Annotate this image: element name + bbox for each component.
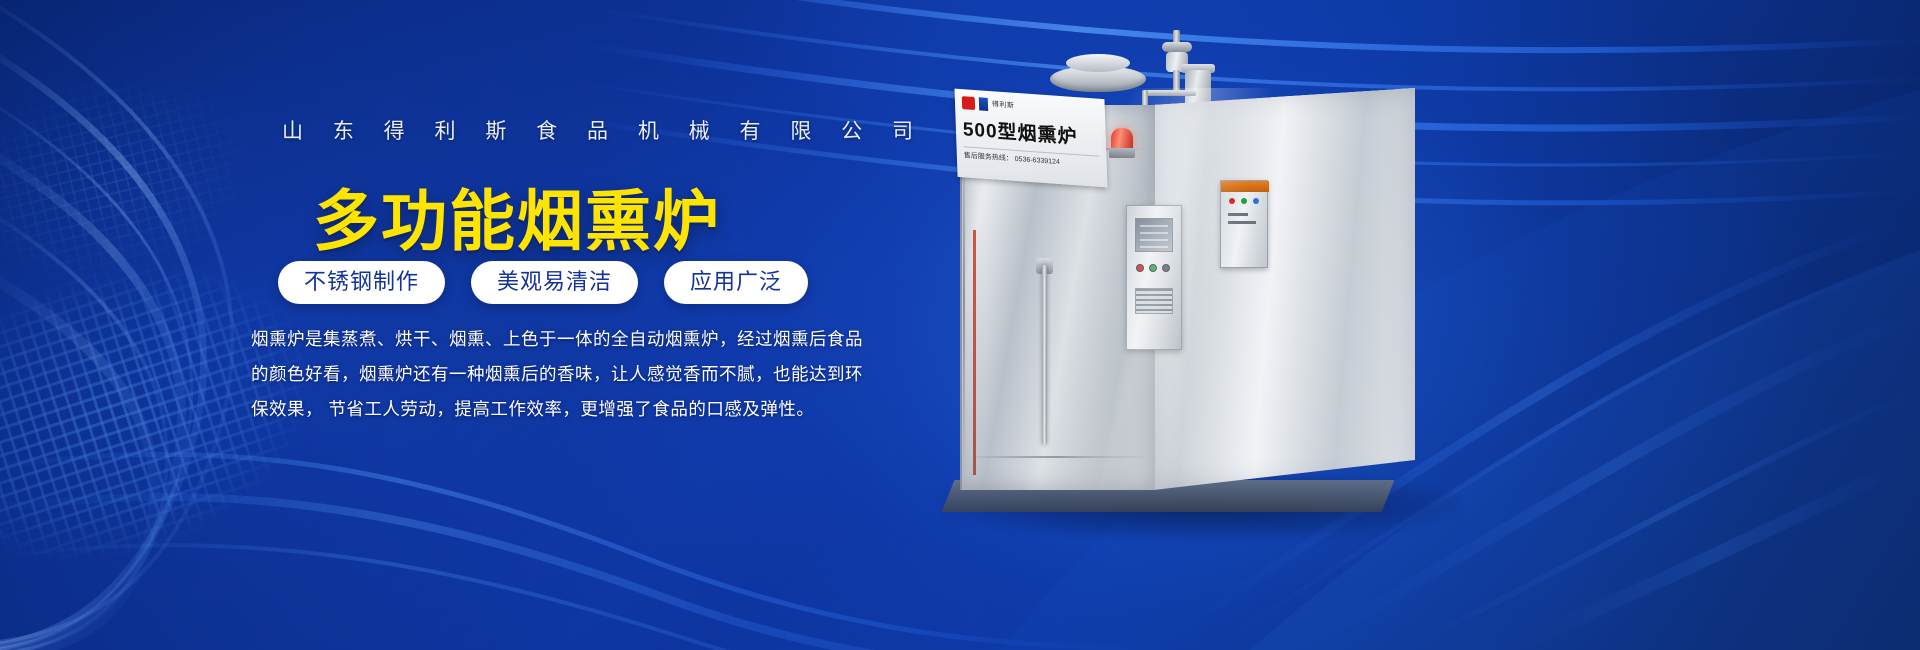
door-handle[interactable] <box>1042 265 1047 445</box>
indicator-green-icon <box>1149 264 1157 272</box>
electrical-indicator-green-icon <box>1241 198 1247 204</box>
feature-pill-wide-use[interactable]: 应用广泛 <box>664 261 808 304</box>
product-photo-smokehouse-oven: 得利斯 500型烟熏炉 售后服务热线： 0536-6339124 <box>930 30 1470 550</box>
cabinet-side-panel <box>1153 88 1415 490</box>
electrical-box[interactable] <box>1220 180 1268 268</box>
service-hotline: 售后服务热线： 0536-6339124 <box>963 146 1099 170</box>
logo-square-red-icon <box>962 96 975 110</box>
logo-square-blue-icon <box>979 97 988 111</box>
electrical-indicator-red-icon <box>1229 198 1235 204</box>
page-title: 多功能烟熏炉 <box>313 168 721 264</box>
promo-banner: 山 东 得 利 斯 食 品 机 械 有 限 公 司 多功能烟熏炉 不锈钢制作 美… <box>0 0 1920 650</box>
electrical-label-strip <box>1228 213 1248 216</box>
electrical-label-strip <box>1228 221 1256 224</box>
description-line-3: 保效果， 节省工人劳动，提高工作效率，更增强了食品的口感及弹性。 <box>251 392 821 427</box>
red-gasket-strip <box>973 230 976 475</box>
feature-pill-easy-clean[interactable]: 美观易清洁 <box>471 261 638 304</box>
control-panel-vent <box>1135 288 1173 314</box>
electrical-box-header <box>1221 181 1269 192</box>
control-indicator-row <box>1136 264 1170 272</box>
valve-handwheel <box>1162 42 1192 52</box>
brand-name: 得利斯 <box>992 99 1015 111</box>
model-name: 500型烟熏炉 <box>962 114 1099 151</box>
product-description: 烟熏炉是集蒸煮、烘干、烟熏、上色于一体的全自动烟熏炉，经过烟熏后食品 的颜色好看… <box>251 322 821 427</box>
description-line-1: 烟熏炉是集蒸煮、烘干、烟熏、上色于一体的全自动烟熏炉，经过烟熏后食品 <box>251 322 821 357</box>
control-panel[interactable] <box>1126 205 1182 350</box>
door-seam <box>963 125 965 475</box>
company-name: 山 东 得 利 斯 食 品 机 械 有 限 公 司 <box>282 115 925 145</box>
feature-pill-stainless[interactable]: 不锈钢制作 <box>278 261 445 304</box>
banner-content: 山 东 得 利 斯 食 品 机 械 有 限 公 司 多功能烟熏炉 不锈钢制作 美… <box>0 0 900 650</box>
feature-pill-list: 不锈钢制作 美观易清洁 应用广泛 <box>278 261 808 304</box>
product-nameplate: 得利斯 500型烟熏炉 售后服务热线： 0536-6339124 <box>955 89 1108 188</box>
control-knob-icon[interactable] <box>1162 264 1170 272</box>
indicator-red-icon <box>1136 264 1144 272</box>
alarm-beacon-base <box>1109 148 1135 158</box>
cross-pipe <box>1144 90 1196 96</box>
electrical-indicator-blue-icon <box>1253 198 1259 204</box>
roof-duct-cap <box>1066 54 1130 72</box>
door-panel-line <box>966 456 1149 458</box>
description-line-2: 的颜色好看，烟熏炉还有一种烟熏后的香味，让人感觉香而不腻，也能达到环 <box>251 357 821 392</box>
control-display-screen <box>1135 218 1173 252</box>
